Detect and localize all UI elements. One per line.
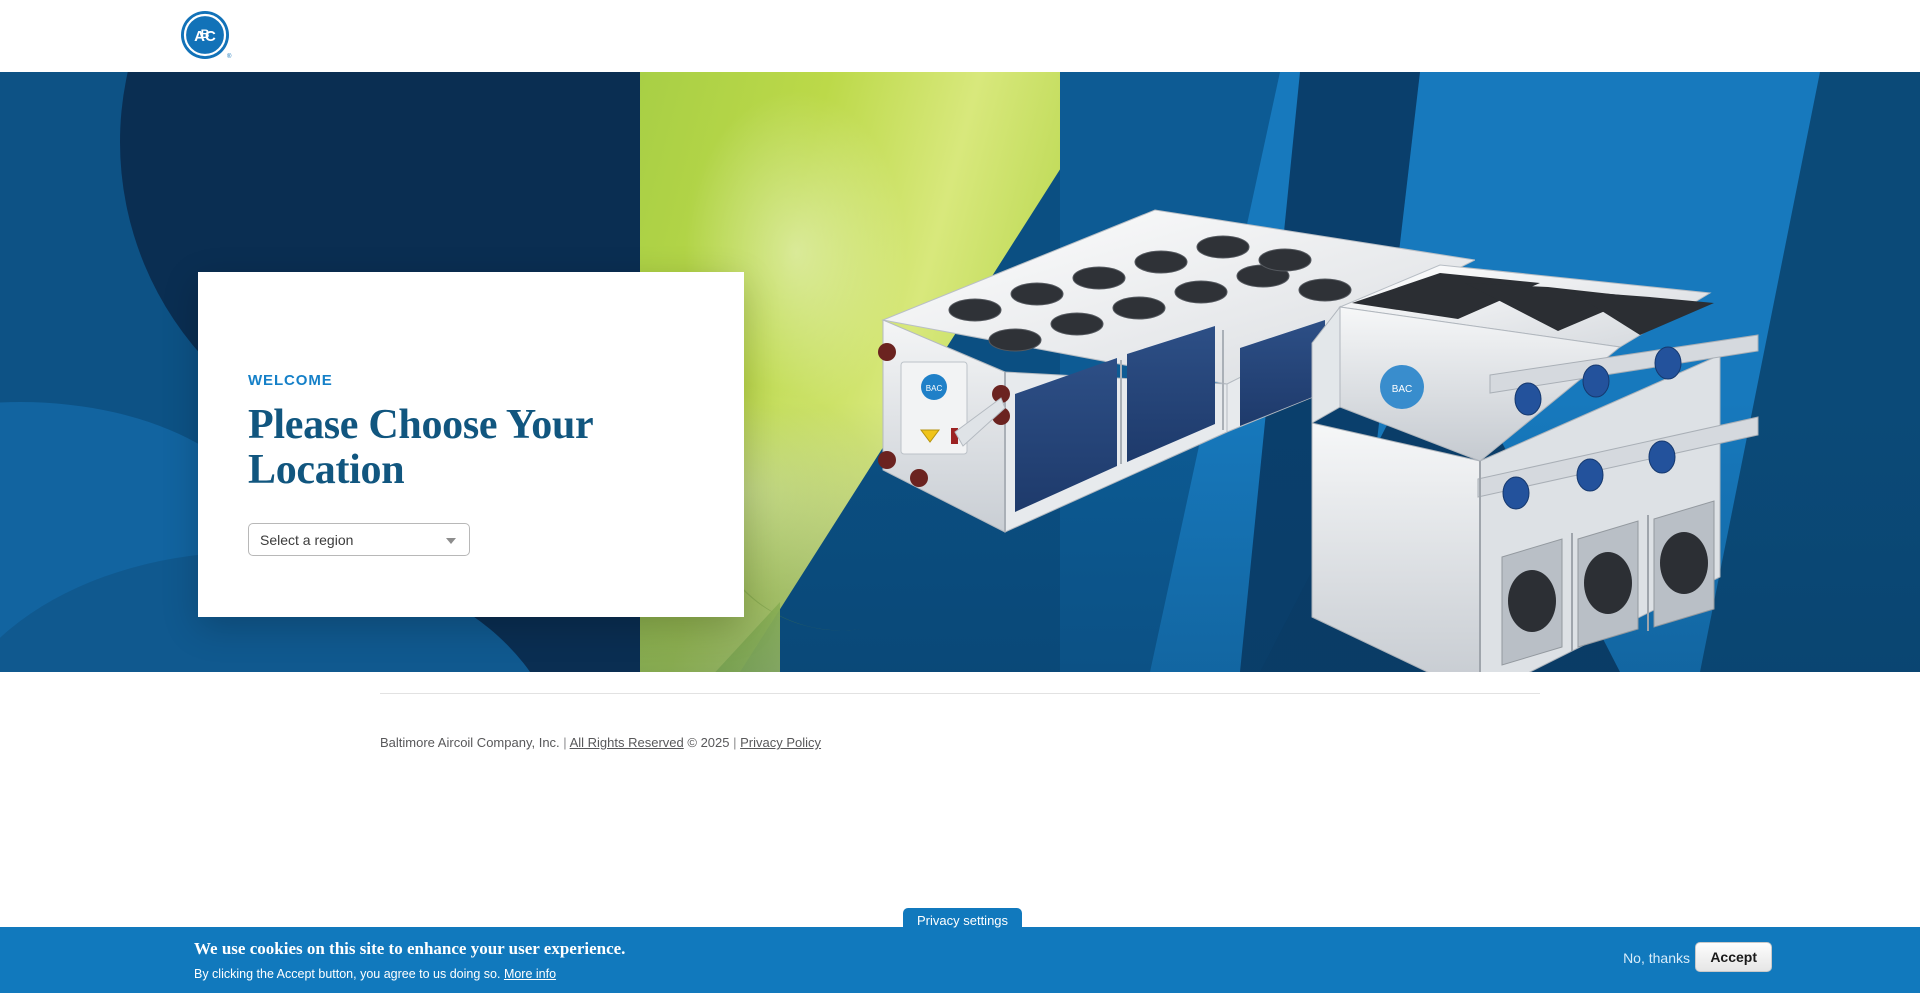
bac-logo[interactable]: B AC ® bbox=[178, 8, 234, 64]
chevron-down-icon bbox=[446, 538, 456, 544]
footer-separator-2: | bbox=[733, 735, 736, 750]
page-root: B AC ® bbox=[0, 0, 1920, 993]
site-header: B AC ® bbox=[0, 0, 1920, 72]
cookie-headline: We use cookies on this site to enhance y… bbox=[194, 939, 625, 959]
product-condenser-image: BAC bbox=[1290, 247, 1760, 672]
cookie-subtext: By clicking the Accept button, you agree… bbox=[194, 967, 556, 981]
footer-legal: Baltimore Aircoil Company, Inc. | All Ri… bbox=[380, 735, 821, 750]
hero-banner: BAC bbox=[0, 72, 1920, 672]
footer-separator-1: | bbox=[563, 735, 566, 750]
cookie-accept-button[interactable]: Accept bbox=[1695, 942, 1772, 972]
svg-text:BAC: BAC bbox=[926, 384, 943, 393]
region-select[interactable]: Select a region bbox=[248, 523, 470, 556]
privacy-settings-tab[interactable]: Privacy settings bbox=[903, 908, 1022, 934]
footer-copyright: © 2025 bbox=[687, 735, 729, 750]
site-footer: Baltimore Aircoil Company, Inc. | All Ri… bbox=[0, 672, 1920, 927]
svg-text:BAC: BAC bbox=[1392, 384, 1413, 395]
more-info-link[interactable]: More info bbox=[504, 967, 556, 981]
svg-text:®: ® bbox=[227, 53, 232, 60]
bac-logo-icon: B AC ® bbox=[178, 8, 234, 64]
footer-divider bbox=[380, 693, 1540, 694]
footer-company: Baltimore Aircoil Company, Inc. bbox=[380, 735, 560, 750]
location-chooser-card: WELCOME Please Choose Your Location Sele… bbox=[198, 272, 744, 617]
region-select-value: Select a region bbox=[260, 532, 353, 548]
privacy-policy-link[interactable]: Privacy Policy bbox=[740, 735, 821, 750]
cookie-decline-button[interactable]: No, thanks bbox=[1623, 950, 1690, 966]
page-title: Please Choose Your Location bbox=[248, 403, 628, 493]
all-rights-reserved-link[interactable]: All Rights Reserved bbox=[570, 735, 684, 750]
svg-text:AC: AC bbox=[194, 28, 216, 45]
card-eyebrow: WELCOME bbox=[248, 372, 744, 389]
cookie-subtext-text: By clicking the Accept button, you agree… bbox=[194, 967, 500, 981]
